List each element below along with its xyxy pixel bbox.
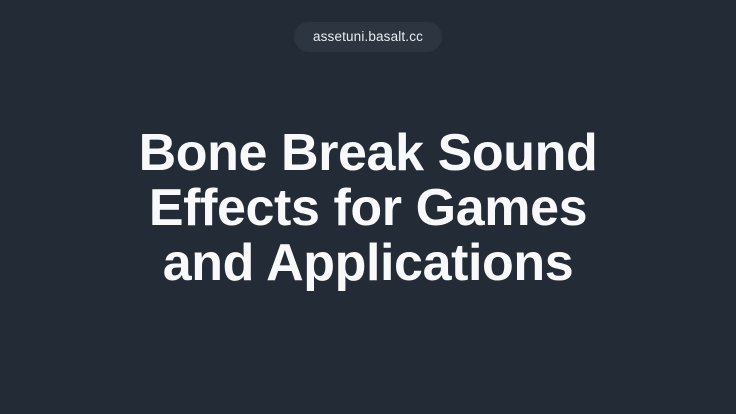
- headline-line-2: Effects for Games: [149, 181, 587, 236]
- headline-line-3: and Applications: [163, 236, 574, 291]
- page-title: Bone Break Sound Effects for Games and A…: [0, 126, 736, 291]
- share-card: assetuni.basalt.cc Bone Break Sound Effe…: [0, 0, 736, 414]
- headline-line-1: Bone Break Sound: [139, 126, 598, 181]
- domain-pill: assetuni.basalt.cc: [294, 22, 442, 52]
- domain-pill-label: assetuni.basalt.cc: [313, 30, 423, 44]
